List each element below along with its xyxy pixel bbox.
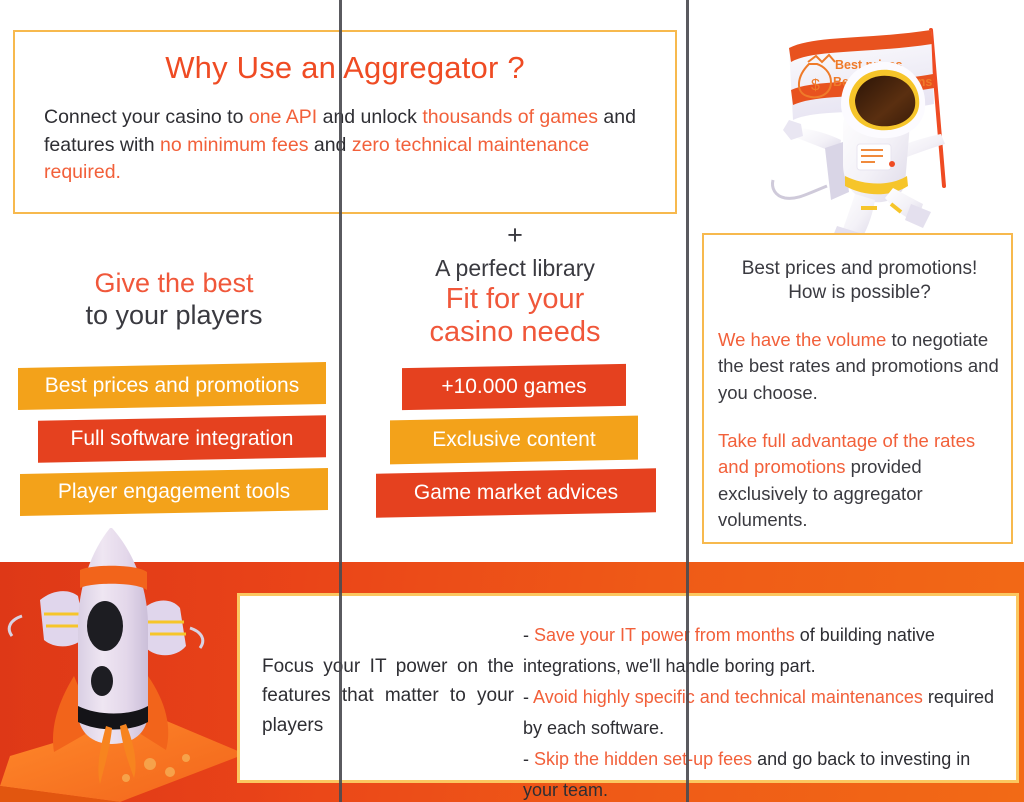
left-badge-player-engagement-tools[interactable]: Player engagement tools bbox=[20, 471, 328, 513]
page-title: Why Use an Aggregator ? bbox=[15, 50, 675, 86]
badge-label: +10.000 games bbox=[427, 375, 600, 399]
bullet-dash: - bbox=[523, 625, 534, 645]
money-bag-dollar: $ bbox=[811, 77, 820, 94]
bullet-highlight-avoid-maintenances: Avoid highly specific and technical main… bbox=[533, 687, 923, 707]
plus-icon: + bbox=[356, 222, 674, 249]
rocket-pebble bbox=[182, 754, 190, 762]
hero-body-text: Connect your casino to one API and unloc… bbox=[44, 104, 652, 187]
bullet-item: - Avoid highly specific and technical ma… bbox=[523, 682, 999, 744]
badge-label: Game market advices bbox=[400, 481, 632, 505]
badge-label: Full software integration bbox=[57, 427, 308, 451]
right-panel-title-line1: Best prices and promotions! bbox=[716, 257, 1003, 281]
rocket-booster-right bbox=[144, 601, 203, 656]
hero-highlight-thousands-games: thousands of games bbox=[422, 106, 598, 128]
flag-pole bbox=[931, 30, 944, 186]
middle-badge-exclusive-content[interactable]: Exclusive content bbox=[390, 418, 638, 462]
right-panel-title: Best prices and promotions! How is possi… bbox=[716, 257, 1003, 306]
right-panel-title-line2: How is possible? bbox=[716, 281, 1003, 305]
hero-seg-4: and bbox=[308, 134, 351, 156]
middle-heading-line3: casino needs bbox=[356, 316, 674, 350]
left-column-heading: Give the best to your players bbox=[14, 268, 334, 331]
left-heading-line1: Give the best bbox=[14, 268, 334, 300]
right-panel-highlight-volume: We have the volume bbox=[718, 329, 886, 350]
bottom-panel-bullets: - Save your IT power from months of buil… bbox=[523, 620, 999, 802]
rocket-booster-left bbox=[9, 591, 86, 646]
right-panel-paragraph-1: We have the volume to negotiate the best… bbox=[718, 327, 1008, 406]
bullet-item: - Skip the hidden set-up fees and go bac… bbox=[523, 744, 999, 802]
hero-highlight-no-minimum-fees: no minimum fees bbox=[160, 134, 308, 156]
rocket-window-large bbox=[87, 601, 123, 651]
bullet-dash: - bbox=[523, 749, 534, 769]
right-info-panel: Best prices and promotions! How is possi… bbox=[702, 233, 1013, 544]
astronaut-visor bbox=[855, 76, 915, 127]
astronaut-left-glove bbox=[783, 120, 803, 140]
right-panel-paragraph-2: Take full advantage of the rates and pro… bbox=[718, 428, 1008, 534]
badge-label: Player engagement tools bbox=[44, 480, 304, 504]
left-heading-line2: to your players bbox=[14, 300, 334, 332]
hero-highlight-one-api: one API bbox=[249, 106, 317, 128]
infographic-canvas: $ Best prices Best promotions bbox=[0, 0, 1024, 802]
bullet-dash: - bbox=[523, 687, 533, 707]
bullet-highlight-save-it-power: Save your IT power from months bbox=[534, 625, 795, 645]
middle-badge-game-market-advices[interactable]: Game market advices bbox=[376, 471, 656, 515]
badge-label: Exclusive content bbox=[418, 428, 609, 452]
badge-label: Best prices and promotions bbox=[31, 374, 313, 398]
rocket-pebble bbox=[165, 767, 175, 777]
rocket-illustration bbox=[0, 516, 250, 802]
fold-line-left bbox=[339, 0, 342, 802]
astronaut-chest-button bbox=[889, 161, 895, 167]
hero-card: Why Use an Aggregator ? Connect your cas… bbox=[13, 30, 677, 214]
hero-seg-2: and unlock bbox=[317, 106, 422, 128]
fold-line-right bbox=[686, 0, 689, 802]
middle-column-heading: + A perfect library Fit for your casino … bbox=[356, 222, 674, 350]
astronaut-tether bbox=[773, 180, 828, 198]
middle-heading-line1: A perfect library bbox=[356, 255, 674, 283]
rocket-pebble bbox=[122, 774, 130, 782]
middle-badge-10000-games[interactable]: +10.000 games bbox=[402, 366, 626, 408]
bullet-item: - Save your IT power from months of buil… bbox=[523, 620, 999, 682]
hero-seg-1: Connect your casino to bbox=[44, 106, 249, 128]
left-badge-full-software-integration[interactable]: Full software integration bbox=[38, 418, 326, 460]
astronaut-illustration: $ Best prices Best promotions bbox=[745, 8, 1024, 240]
left-badge-best-prices[interactable]: Best prices and promotions bbox=[18, 365, 326, 407]
rocket-window-small bbox=[91, 666, 113, 696]
rocket-pebble bbox=[144, 758, 156, 770]
bottom-panel: Focus your IT power on the features that… bbox=[237, 593, 1019, 783]
bullet-highlight-skip-setup-fees: Skip the hidden set-up fees bbox=[534, 749, 752, 769]
middle-heading-line2: Fit for your bbox=[356, 283, 674, 317]
bottom-panel-left-text: Focus your IT power on the features that… bbox=[262, 652, 514, 740]
